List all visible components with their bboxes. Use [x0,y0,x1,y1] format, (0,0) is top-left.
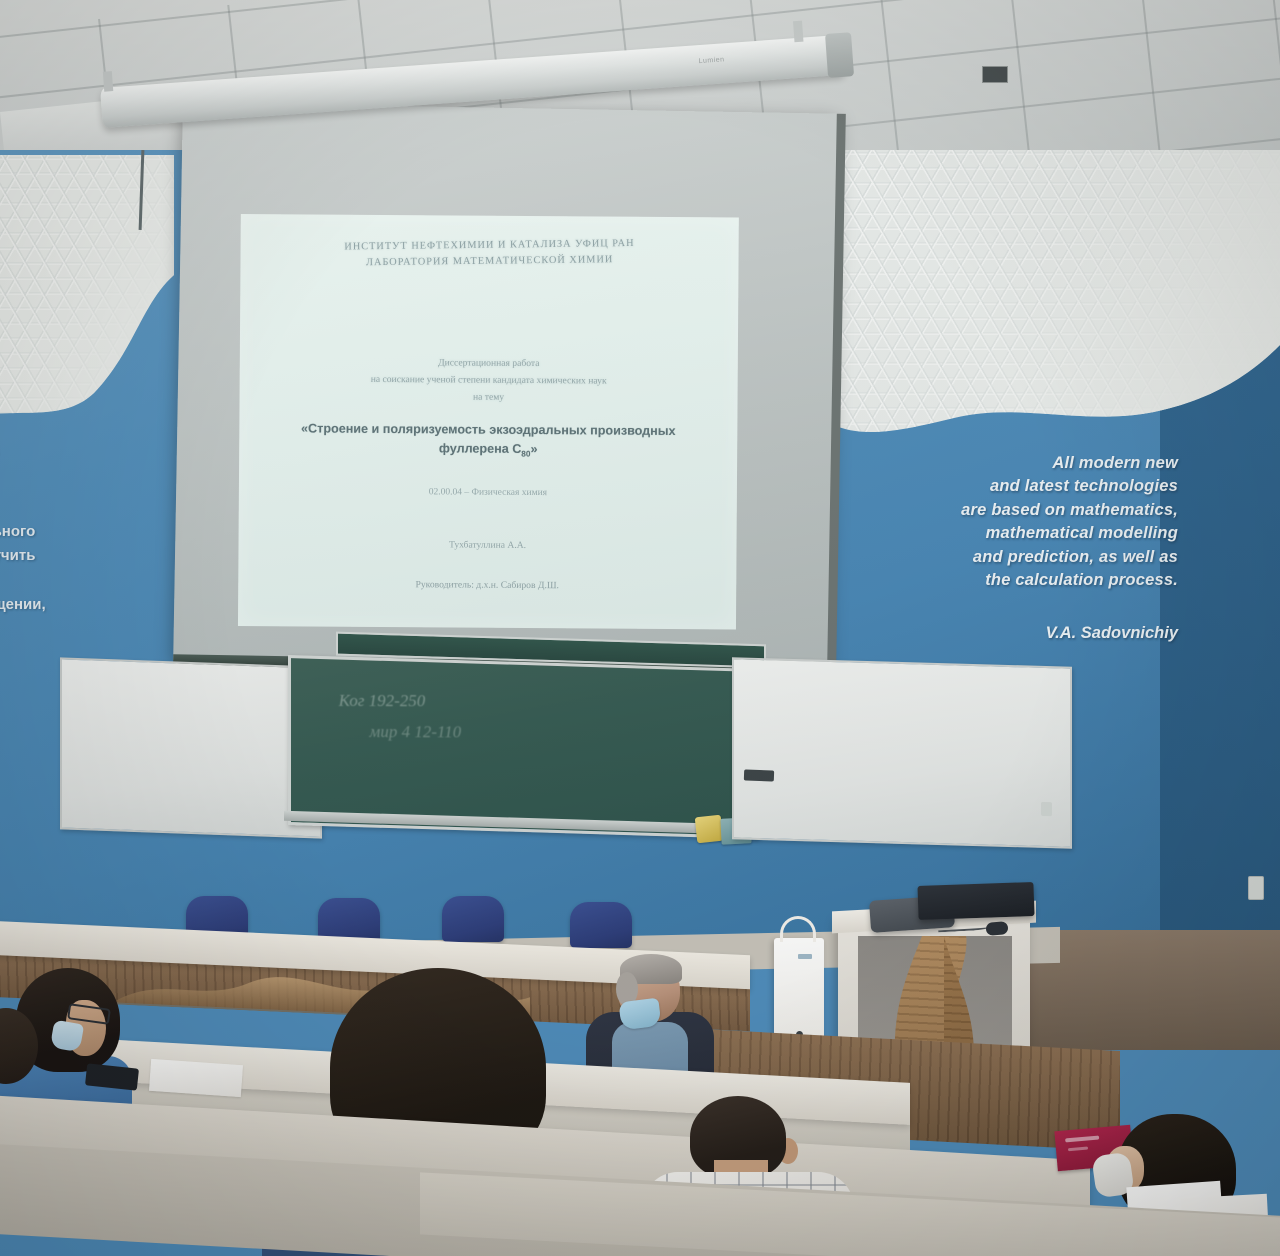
wall-quote-author: V.A. Sadovnichiy [858,624,1178,643]
roller-brand-label: Lumien [698,56,724,65]
quote-line-2: and latest technologies [858,475,1178,498]
quote-left-line-3: …мации, [0,487,76,511]
lecture-hall-photo: All modern new and latest technologies a… [0,0,1280,1256]
slide-thesis-title: «Строение и поляризуемость экзоэдральных… [253,419,723,462]
quote-line-4: mathematical modelling [858,522,1178,545]
marker-holder-icon[interactable] [744,769,774,781]
ceiling-speaker-icon [982,66,1008,83]
quote-left-line-2: …ить [0,462,76,486]
chalk-line-2: мир 4 12-110 [369,716,600,748]
quote-line-1: All modern new [858,452,1178,475]
quote-line-6: the calculation process. [858,569,1178,592]
presentation-slide: ИНСТИТУТ НЕФТЕХИМИИ И КАТАЛИЗА УФИЦ РАН … [238,214,739,629]
whiteboard-right[interactable] [732,657,1072,848]
slide-title-prefix: фуллерена С [439,441,522,456]
sanitizer-logo-icon [798,954,812,959]
chalkboard-writing: Ког 192-250 мир 4 12-110 [338,685,600,749]
quote-left-line-6: …ивом [0,569,78,593]
chalk-line-1: Ког 192-250 [338,685,599,717]
slide-title-line-1: «Строение и поляризуемость экзоэдральных… [253,419,723,441]
slide-author-name: Тухбатуллина А.А. [238,538,736,552]
power-socket-icon [1248,876,1264,900]
slide-intro-line-3: на тему [240,388,738,408]
magnet-icon [1041,802,1052,816]
slide-supervisor: Руководитель: д.х.н. Сабиров Д.Ш. [238,578,736,592]
slide-title-subscript: 80 [521,449,530,458]
roller-end-cap [825,32,854,78]
board-assembly: Ког 192-250 мир 4 12-110 [60,646,1070,846]
wall-quote-left-part3: …ничий [0,600,78,617]
slide-title-line-2: фуллерена С80» [253,438,723,462]
slide-specialty-code: 02.00.04 – Физическая химия [239,486,737,499]
chair[interactable] [570,902,632,948]
chalkboard[interactable]: Ког 192-250 мир 4 12-110 [288,655,758,839]
slide-institution-header: ИНСТИТУТ НЕФТЕХИМИИ И КАТАЛИЗА УФИЦ РАН … [240,235,738,273]
quote-left-line-5: …но получить [0,544,78,568]
slide-title-suffix: » [530,442,537,456]
roller-bracket-right [793,21,803,43]
paper-sheet[interactable] [149,1059,243,1097]
roller-bracket-left [103,71,113,92]
quote-line-3: are based on mathematics, [858,499,1178,522]
floor-wood-right [1030,930,1280,1050]
quote-line-5: and prediction, as well as [858,546,1178,569]
book-subtitle-stripe [1068,1147,1088,1152]
quote-left-line-4: …ектуального [0,520,78,544]
sponge-icon[interactable] [695,815,724,844]
chair[interactable] [442,896,504,942]
whiteboard-left[interactable] [60,657,322,838]
wall-quote-right: All modern new and latest technologies a… [858,452,1178,593]
book-title-stripe [1065,1136,1099,1143]
laptop-screen[interactable] [917,882,1034,920]
projection-screen: ИНСТИТУТ НЕФТЕХИМИИ И КАТАЛИЗА УФИЦ РАН … [173,102,838,671]
slide-intro-block: Диссертационная работа на соискание учен… [240,354,738,408]
quote-left-line-1: …ьютера [0,438,76,462]
wall-quote-left-part1: …ьютера …ить …мации, [0,438,76,511]
